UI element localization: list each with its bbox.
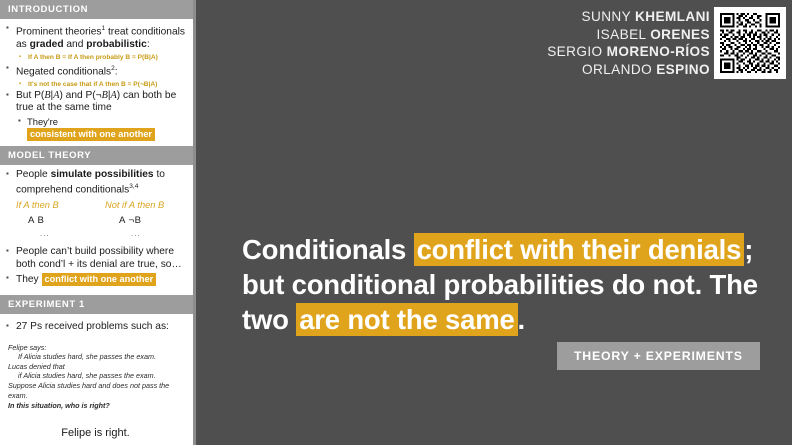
model-diagram: If A then B A B ... Not if A then B A ¬B… — [4, 200, 187, 244]
headline-highlight-1: conflict with their denials — [414, 233, 745, 266]
section-body-experiment-1: 27 Ps received problems such as: Felipe … — [0, 314, 193, 439]
headline-highlight-2: are not the same — [296, 303, 517, 336]
bullet-text: Negated conditionals — [16, 66, 111, 77]
bullet-bold-probabilistic: probabilistic — [86, 39, 147, 50]
poster-main-panel: SUNNY KHEMLANI ISABEL ORENES SERGIO MORE… — [196, 0, 792, 445]
bullet-bold-simulate: simulate possibilities — [51, 169, 154, 180]
model-row: A B — [16, 215, 59, 226]
model-theory-bullet-list: People simulate possibilities to compreh… — [4, 169, 187, 198]
list-item: People simulate possibilities to compreh… — [4, 169, 187, 198]
model-theory-bullet-list-2: People can’t build possibility where bot… — [4, 246, 187, 286]
sub-bullet-list: It's not the case that if A then B = P(¬… — [16, 80, 187, 89]
author-list: SUNNY KHEMLANI ISABEL ORENES SERGIO MORE… — [547, 8, 710, 78]
model-title: Not if A then B — [105, 200, 164, 210]
author-given-name: SERGIO — [547, 44, 606, 59]
highlight-conflict-with-one-another: conflict with one another — [42, 273, 157, 286]
section-header-model-theory: MODEL THEORY — [0, 146, 193, 165]
problem-question: In this situation, who is right? — [8, 401, 183, 411]
left-content-column: INTRODUCTION Prominent theories1 treat c… — [0, 0, 193, 445]
problem-vignette: Felipe says: If Alicia studies hard, she… — [4, 335, 187, 411]
section-header-introduction: INTRODUCTION — [0, 0, 193, 19]
list-item: They're consistent with one another — [16, 116, 187, 141]
list-item: Negated conditionals2: It's not the case… — [4, 63, 187, 89]
author-line: ORLANDO ESPINO — [547, 61, 710, 79]
bullet-text-pre: They — [16, 274, 39, 285]
problem-answer: Felipe is right. — [4, 427, 187, 439]
footnote-marker: 3,4 — [129, 183, 138, 190]
bullet-text-pre: People — [16, 169, 51, 180]
section-body-model-theory: People simulate possibilities to compreh… — [0, 165, 193, 286]
author-line: SERGIO MORENO-RÍOS — [547, 43, 710, 61]
list-item: 27 Ps received problems such as: — [4, 321, 187, 334]
nested-bullet-list: They're consistent with one another — [16, 116, 187, 141]
model-ellipsis: ... — [16, 229, 59, 238]
highlight-consistent-with-one-another: consistent with one another — [27, 128, 155, 141]
author-given-name: SUNNY — [582, 9, 636, 24]
author-surname: ESPINO — [656, 62, 710, 77]
qr-code-icon — [720, 13, 780, 73]
section-header-experiment-1: EXPERIMENT 1 — [0, 295, 193, 314]
section-body-introduction: Prominent theories1 treat conditionals a… — [0, 19, 193, 141]
headline-segment-3: . — [518, 304, 525, 335]
headline-segment-1: Conditionals — [242, 234, 414, 265]
qr-code[interactable] — [714, 7, 786, 79]
model-row: A ¬B — [105, 215, 164, 226]
list-item: Prominent theories1 treat conditionals a… — [4, 23, 187, 62]
model-title: If A then B — [16, 200, 59, 210]
bullet-text-colon: : — [115, 66, 118, 77]
introduction-bullet-list: Prominent theories1 treat conditionals a… — [4, 23, 187, 141]
bullet-text-c: : — [147, 39, 150, 50]
math-mid-2: ) and P(¬ — [59, 90, 101, 101]
problem-line-5: Suppose Alicia studies hard and does not… — [8, 381, 169, 400]
bullet-text-pre: But P( — [16, 90, 44, 101]
list-item: They conflict with one another — [4, 273, 187, 287]
sub-list-item: If A then B = If A then probably B = P(B… — [16, 53, 187, 62]
author-surname: KHEMLANI — [635, 9, 710, 24]
model-column-affirmative: If A then B A B ... — [16, 200, 59, 238]
author-given-name: ORLANDO — [582, 62, 656, 77]
sub-bullet-list: If A then B = If A then probably B = P(B… — [16, 53, 187, 62]
problem-line-4: if Alicia studies hard, she passes the e… — [8, 371, 183, 381]
model-column-negated: Not if A then B A ¬B ... — [105, 200, 164, 238]
bullet-text-pre: Prominent theories — [16, 26, 102, 37]
problem-line-2: If Alicia studies hard, she passes the e… — [8, 352, 183, 362]
bullet-bold-graded: graded — [30, 39, 64, 50]
author-surname: MORENO-RÍOS — [607, 44, 710, 59]
problem-line-3: Lucas denied that — [8, 362, 65, 371]
list-item: People can’t build possibility where bot… — [4, 246, 187, 271]
sub-list-item: It's not the case that if A then B = P(¬… — [16, 80, 187, 89]
author-line: ISABEL ORENES — [547, 26, 710, 44]
nested-bullet-text: They're — [27, 116, 58, 127]
list-item: But P(B|A) and P(¬B|A) can both be true … — [4, 90, 187, 141]
status-badge: THEORY + EXPERIMENTS — [557, 342, 760, 370]
author-surname: ORENES — [650, 27, 710, 42]
bullet-text-b: and — [64, 39, 87, 50]
experiment-bullet-list: 27 Ps received problems such as: — [4, 321, 187, 334]
author-line: SUNNY KHEMLANI — [547, 8, 710, 26]
poster-headline: Conditionals conflict with their denials… — [242, 232, 782, 337]
problem-line-1: Felipe says: — [8, 343, 46, 352]
author-given-name: ISABEL — [597, 27, 651, 42]
model-ellipsis: ... — [105, 229, 164, 238]
